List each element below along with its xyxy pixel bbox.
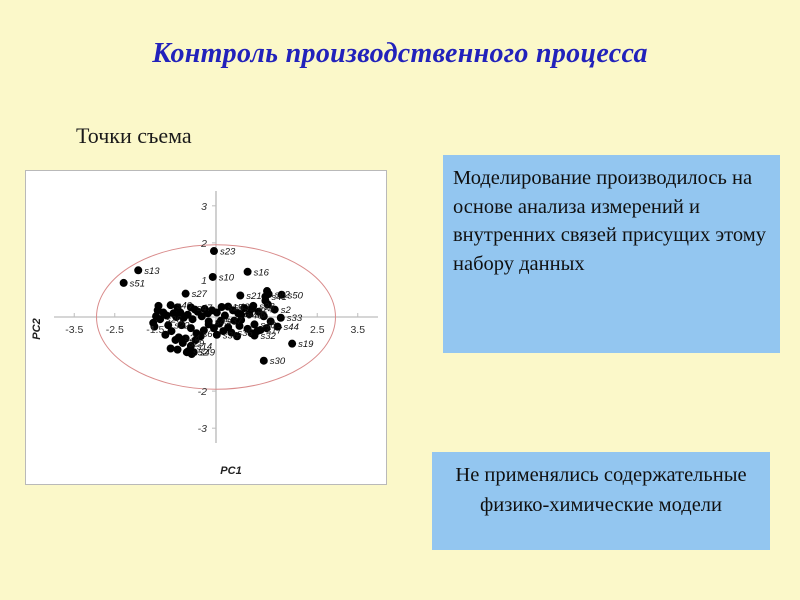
svg-text:-2.5: -2.5 (106, 324, 124, 336)
svg-text:s15: s15 (228, 302, 244, 313)
svg-text:2: 2 (200, 238, 207, 250)
info-box-no-physchem-models: Не применялись содержательные физико-хим… (432, 452, 770, 550)
svg-text:-3: -3 (198, 423, 207, 435)
svg-text:s23: s23 (220, 247, 236, 258)
svg-text:s10: s10 (219, 272, 235, 283)
svg-text:s19: s19 (298, 339, 314, 350)
svg-text:s35: s35 (237, 328, 253, 339)
page-title: Контроль производственного процесса (0, 38, 800, 70)
scatter-chart-panel: s23s13s10s16s51s27s50s21s12s41s40s47s43s… (25, 170, 387, 485)
svg-text:s51: s51 (130, 278, 145, 289)
svg-text:1: 1 (201, 275, 207, 287)
svg-text:s44: s44 (284, 322, 299, 333)
scatter-plot-svg: s23s13s10s16s51s27s50s21s12s41s40s47s43s… (26, 171, 386, 484)
svg-text:s22: s22 (174, 321, 190, 332)
svg-text:s27: s27 (192, 289, 208, 300)
svg-text:s21: s21 (246, 291, 261, 302)
svg-text:s37: s37 (227, 316, 243, 327)
svg-text:-1.5: -1.5 (146, 324, 164, 336)
svg-text:s40: s40 (177, 301, 193, 312)
svg-text:s50: s50 (288, 290, 304, 301)
y-axis-title: PC2 (31, 318, 43, 339)
svg-text:s52: s52 (193, 348, 209, 359)
svg-text:2.5: 2.5 (310, 324, 325, 336)
svg-text:3.5: 3.5 (350, 324, 365, 336)
chart-caption: Точки съема (76, 123, 192, 149)
svg-text:3: 3 (201, 201, 207, 213)
svg-text:s32: s32 (260, 331, 276, 342)
svg-text:s47: s47 (197, 303, 213, 314)
svg-text:-2: -2 (198, 386, 207, 398)
svg-text:s13: s13 (144, 266, 160, 277)
svg-text:-3.5: -3.5 (65, 324, 83, 336)
slide-root: Контроль производственного процесса Точк… (0, 0, 800, 600)
svg-text:s30: s30 (270, 356, 286, 367)
svg-text:s6: s6 (203, 329, 214, 340)
x-axis-title: PC1 (220, 465, 241, 477)
info-box-modeling-description: Моделирование производилось на основе ан… (443, 155, 780, 353)
svg-text:s16: s16 (254, 267, 270, 278)
